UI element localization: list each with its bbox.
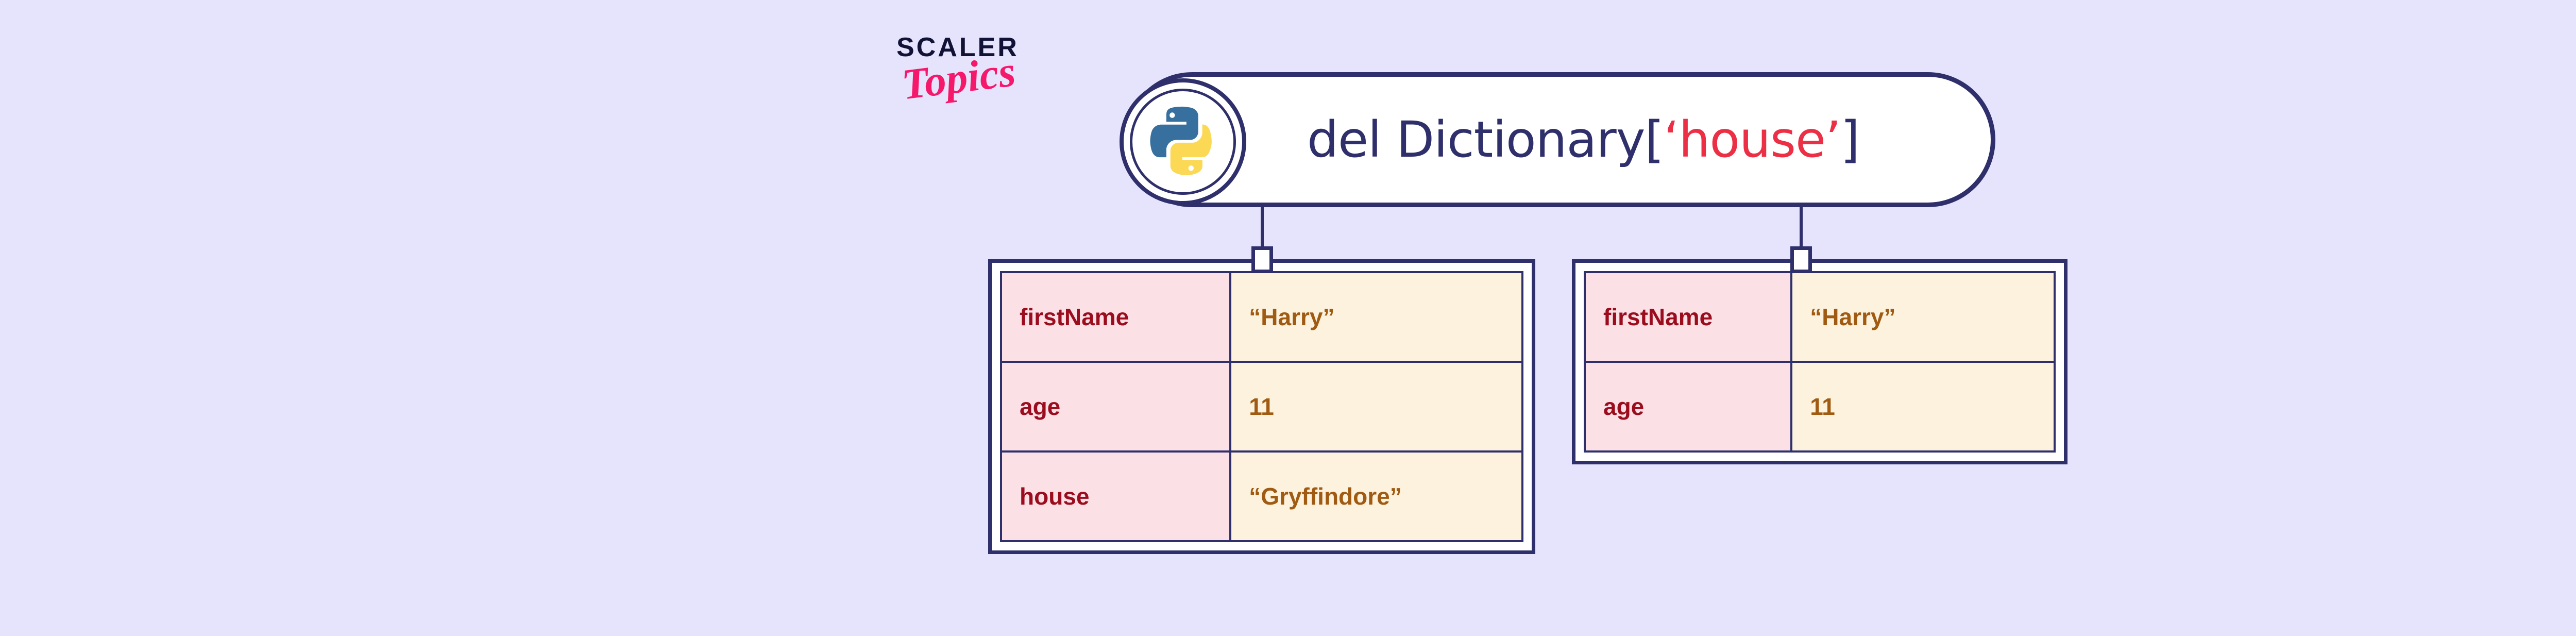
code-open-bracket: [ — [1645, 111, 1664, 169]
connector-node-before — [1251, 246, 1273, 273]
table-row: firstName “Harry” — [1001, 272, 1522, 362]
table-row: age 11 — [1585, 362, 2055, 451]
dict-value-cell: 11 — [1230, 362, 1522, 451]
dict-value-cell: 11 — [1791, 362, 2055, 451]
dictionary-before-table: firstName “Harry” age 11 house “Gryffind… — [1000, 271, 1523, 542]
dict-value-cell: “Gryffindore” — [1230, 451, 1522, 541]
code-string-literal: ‘house’ — [1664, 111, 1841, 169]
dict-key-cell: age — [1585, 362, 1791, 451]
python-logo-badge — [1120, 78, 1246, 205]
table-row: firstName “Harry” — [1585, 272, 2055, 362]
code-statement-pill: del Dictionary[‘house’] — [1125, 72, 1995, 207]
table-row: house “Gryffindore” — [1001, 451, 1522, 541]
dict-value-cell: “Harry” — [1791, 272, 2055, 362]
python-logo-icon — [1144, 103, 1222, 180]
code-statement-text: del Dictionary[‘house’] — [1307, 111, 1859, 169]
dictionary-before-frame: firstName “Harry” age 11 house “Gryffind… — [988, 259, 1535, 554]
python-logo-inner-ring — [1130, 89, 1236, 195]
dictionary-after-frame: firstName “Harry” age 11 — [1572, 259, 2067, 464]
code-prefix: del Dictionary — [1307, 111, 1645, 169]
dict-value-cell: “Harry” — [1230, 272, 1522, 362]
dict-key-cell: age — [1001, 362, 1230, 451]
code-close-bracket: ] — [1841, 111, 1859, 169]
dict-key-cell: firstName — [1585, 272, 1791, 362]
dict-key-cell: firstName — [1001, 272, 1230, 362]
table-row: age 11 — [1001, 362, 1522, 451]
dictionary-after-table: firstName “Harry” age 11 — [1584, 271, 2056, 453]
connector-node-after — [1790, 246, 1812, 273]
dict-key-cell: house — [1001, 451, 1230, 541]
scaler-topics-logo: SCALER Topics — [896, 34, 1051, 132]
